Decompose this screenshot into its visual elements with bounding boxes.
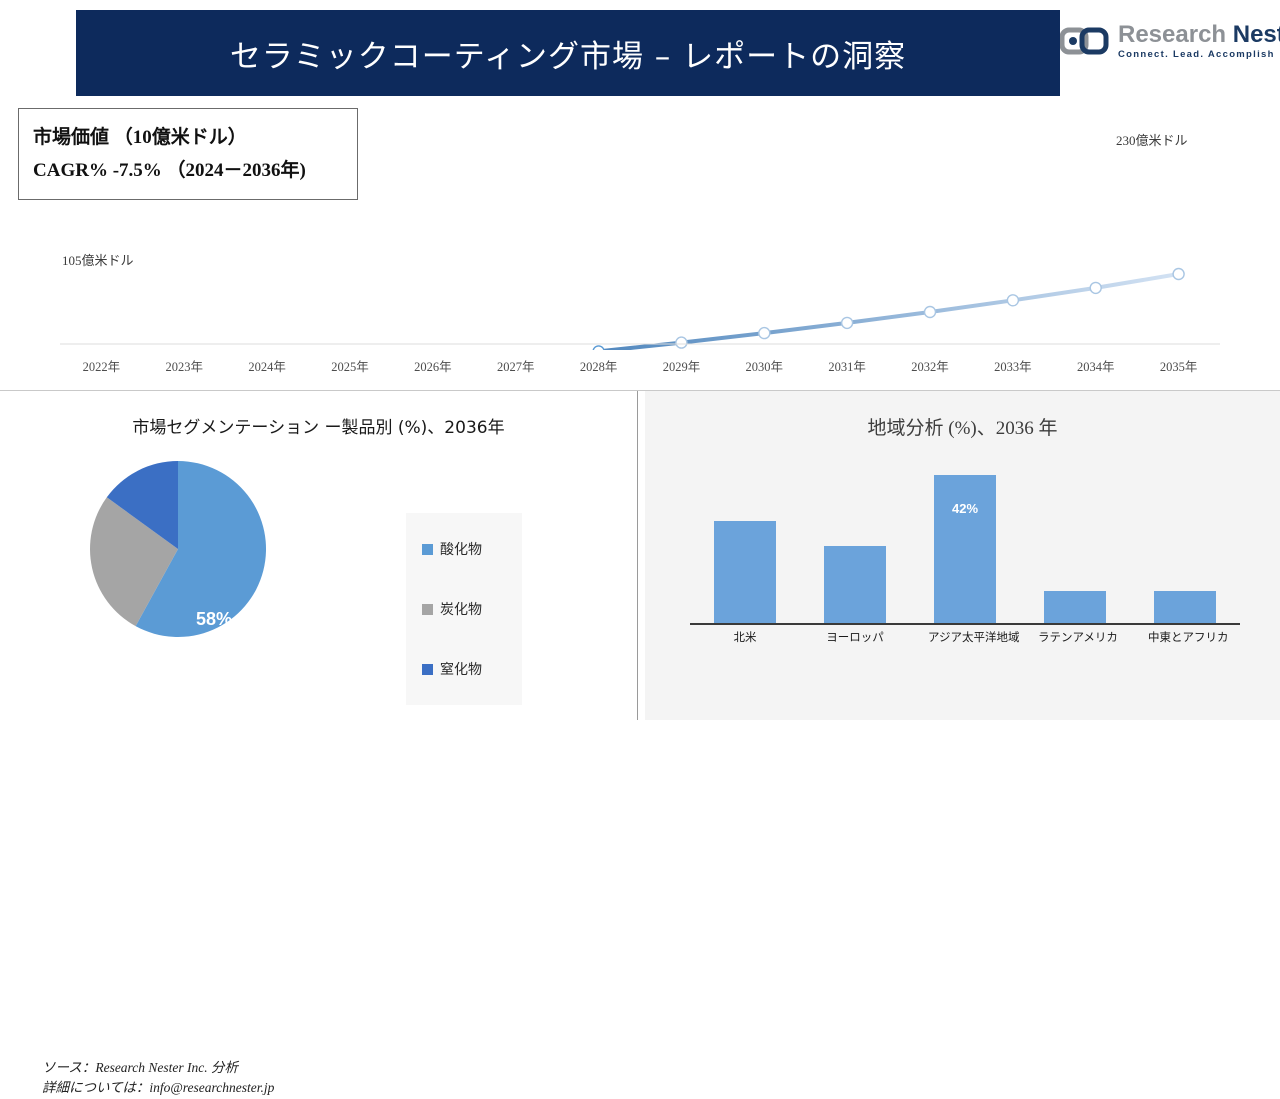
x-axis-tick: 2026年 — [391, 344, 474, 384]
line-chart-plot — [0, 100, 1280, 350]
bar[interactable] — [1154, 591, 1216, 623]
logo-text: Research Nester Connect. Lead. Accomplis… — [1118, 23, 1280, 60]
page-title: セラミックコーティング市場 – レポートの洞察 — [230, 31, 906, 76]
x-axis-tick: 2022年 — [60, 344, 143, 384]
x-axis-tick: 2032年 — [889, 344, 972, 384]
bar-chart-plot: 42% — [690, 461, 1240, 623]
line-marker — [1090, 282, 1101, 293]
header-banner: セラミックコーティング市場 – レポートの洞察 — [76, 10, 1060, 96]
source-line-1: ソース：Research Nester Inc. 分析 — [42, 1058, 274, 1078]
bar-category-label: ラテンアメリカ — [1038, 629, 1112, 645]
bar-category-label: アジア太平洋地域 — [928, 629, 1002, 645]
x-axis-tick: 2034年 — [1054, 344, 1137, 384]
x-axis-tick: 2027年 — [474, 344, 557, 384]
line-marker — [1173, 269, 1184, 280]
interlocking-links-icon — [1060, 24, 1110, 58]
legend-item-nitride[interactable]: 窒化物 — [422, 659, 522, 679]
bar[interactable] — [1044, 591, 1106, 623]
segmentation-panel: 市場セグメンテーション ー製品別 (%)、2036年 58% 酸化物 炭化物 窒… — [0, 391, 637, 720]
bar-column — [818, 461, 892, 623]
line-marker — [1007, 295, 1018, 306]
legend-label-nitride: 窒化物 — [440, 659, 482, 679]
logo-name-first: Research — [1118, 21, 1233, 48]
x-axis-tick: 2025年 — [309, 344, 392, 384]
market-value-line-chart: 105億米ドル 230億米ドル 2022年2023年2024年2025年2026… — [0, 100, 1280, 375]
legend-swatch-oxide — [422, 544, 433, 555]
legend-label-oxide: 酸化物 — [440, 539, 482, 559]
bar-data-label: 42% — [934, 501, 996, 516]
legend-item-carbide[interactable]: 炭化物 — [422, 599, 522, 619]
bar[interactable] — [714, 521, 776, 623]
legend-swatch-carbide — [422, 604, 433, 615]
legend-label-carbide: 炭化物 — [440, 599, 482, 619]
bar-chart: 42% 北米ヨーロッパアジア太平洋地域ラテンアメリカ中東とアフリカ — [645, 451, 1280, 681]
logo-tagline: Connect. Lead. Accomplish — [1118, 50, 1280, 60]
bar-column — [1148, 461, 1222, 623]
line-marker — [925, 307, 936, 318]
x-axis-tick: 2031年 — [806, 344, 889, 384]
line-chart-x-axis: 2022年2023年2024年2025年2026年2027年2028年2029年… — [60, 344, 1220, 384]
logo-name: Research Nester — [1118, 23, 1280, 47]
pie-chart-title: 市場セグメンテーション ー製品別 (%)、2036年 — [0, 413, 637, 438]
bar-chart-baseline — [690, 623, 1240, 625]
x-axis-tick: 2030年 — [723, 344, 806, 384]
bar[interactable]: 42% — [934, 475, 996, 623]
line-end-annotation: 230億米ドル — [1116, 130, 1188, 149]
bar-category-label: 北米 — [708, 629, 782, 645]
bar-column: 42% — [928, 461, 1002, 623]
bar-category-label: 中東とアフリカ — [1148, 629, 1222, 645]
source-note: ソース：Research Nester Inc. 分析 詳細については：info… — [42, 1058, 274, 1099]
bar[interactable] — [824, 546, 886, 624]
x-axis-tick: 2024年 — [226, 344, 309, 384]
x-axis-tick: 2023年 — [143, 344, 226, 384]
x-axis-tick: 2033年 — [971, 344, 1054, 384]
pie-chart-plot — [88, 459, 268, 639]
brand-logo: Research Nester Connect. Lead. Accomplis… — [1060, 14, 1274, 68]
source-line-2: 詳細については：info@researchnester.jp — [42, 1078, 274, 1098]
bar-category-label: ヨーロッパ — [818, 629, 892, 645]
logo-name-second: Nester — [1233, 21, 1280, 48]
pie-chart: 58% 酸化物 炭化物 窒化物 — [0, 451, 637, 651]
x-axis-tick: 2029年 — [640, 344, 723, 384]
x-axis-tick: 2035年 — [1137, 344, 1220, 384]
line-marker — [759, 328, 770, 339]
pie-data-label-primary: 58% — [196, 609, 232, 630]
bar-column — [1038, 461, 1112, 623]
bar-chart-x-axis: 北米ヨーロッパアジア太平洋地域ラテンアメリカ中東とアフリカ — [690, 629, 1240, 645]
x-axis-tick: 2028年 — [557, 344, 640, 384]
regional-analysis-panel: 地域分析 (%)、2036 年 42% 北米ヨーロッパアジア太平洋地域ラテンアメ… — [645, 391, 1280, 720]
line-start-annotation: 105億米ドル — [62, 250, 134, 269]
pie-legend: 酸化物 炭化物 窒化物 — [406, 513, 522, 705]
bar-column — [708, 461, 782, 623]
line-marker — [842, 317, 853, 328]
legend-item-oxide[interactable]: 酸化物 — [422, 539, 522, 559]
panel-vertical-divider — [637, 391, 638, 720]
bar-chart-title: 地域分析 (%)、2036 年 — [645, 413, 1280, 440]
legend-swatch-nitride — [422, 664, 433, 675]
